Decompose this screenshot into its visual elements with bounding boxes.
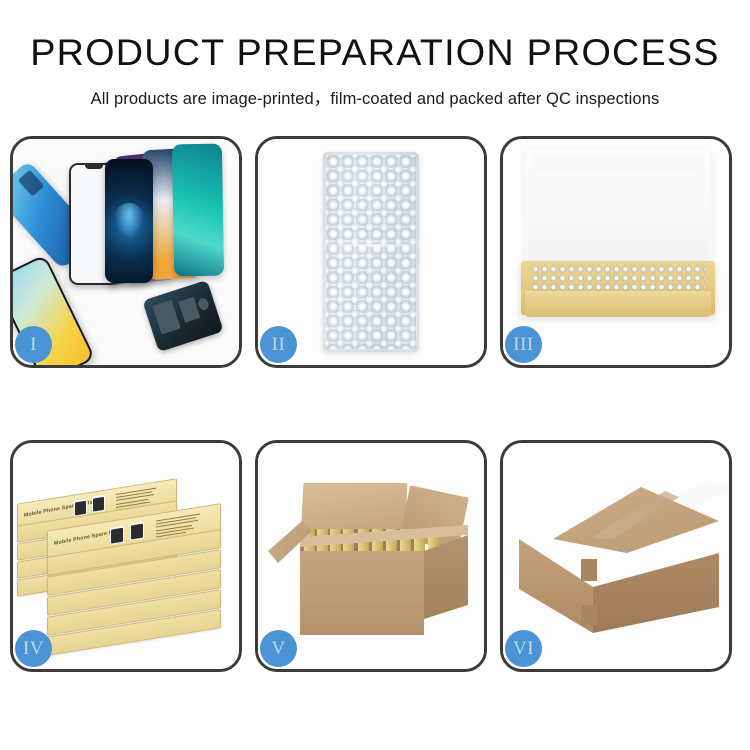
step-3-illustration: III [503,139,729,365]
process-steps-grid: I II III Mobile Phon [10,136,742,672]
foam-sheet [529,197,707,269]
page-title: PRODUCT PREPARATION PROCESS [0,34,750,71]
carton-edge-tab-upper [581,559,597,581]
step-1-illustration: I [13,139,239,365]
bubble-wrapped-contents [531,265,705,293]
step-panel-1[interactable]: I [10,136,242,368]
step-6-illustration: VI [503,443,729,669]
bubble-wrap-bag [323,152,419,352]
carton-edge-tab-lower [581,605,597,625]
page-subtitle: All products are image-printed，film-coat… [0,85,750,109]
step-badge-3: III [505,326,542,363]
box-phone-image [110,526,124,545]
step-panel-3[interactable]: III [500,136,732,368]
step-5-illustration: V [258,443,484,669]
step-badge-2: II [260,326,297,363]
step-panel-2[interactable]: II [255,136,487,368]
step-panel-6[interactable]: VI [500,440,732,672]
box-phone-image [92,495,105,513]
open-shipping-carton [276,485,468,645]
carton-right-face [593,537,719,633]
sealed-shipping-carton [519,487,719,637]
step-badge-1: I [15,326,52,363]
step-panel-4[interactable]: Mobile Phone Spare Parts Mobile Phone Sp… [10,440,242,672]
step-4-illustration: Mobile Phone Spare Parts Mobile Phone Sp… [13,443,239,669]
step-badge-4: IV [15,630,52,667]
phone-fan-teal [172,144,224,277]
carton-front-wall [300,551,424,635]
step-panel-5[interactable]: V [255,440,487,672]
phone-screen-jellyfish [105,159,153,283]
step-badge-5: V [260,630,297,667]
step-badge-6: VI [505,630,542,667]
step-2-illustration: II [258,139,484,365]
page-header: PRODUCT PREPARATION PROCESS All products… [0,0,750,109]
box-phone-image [130,521,144,540]
kraft-box-front-wall [525,291,711,317]
